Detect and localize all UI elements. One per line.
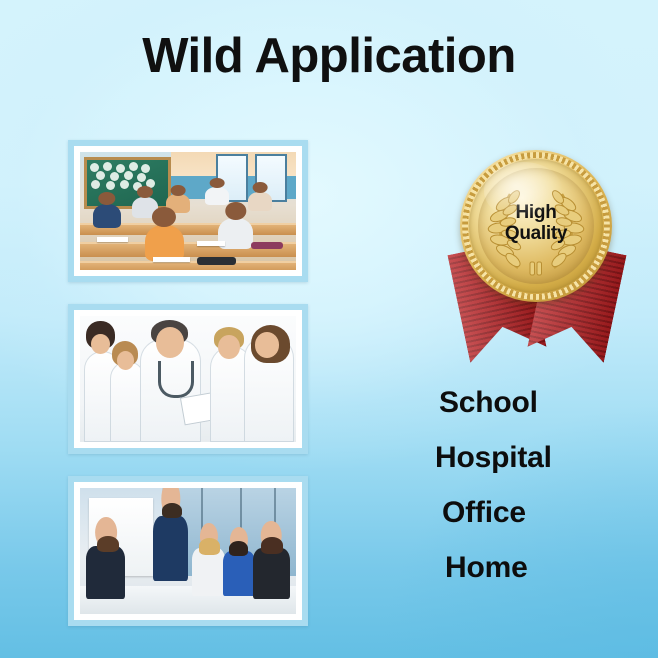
photo-image-hospital: [80, 316, 296, 442]
application-list: School Hospital Office Home: [430, 388, 630, 583]
photo-card-hospital: [68, 304, 308, 454]
application-item-school: School: [439, 388, 630, 418]
quality-badge: High Quality: [452, 150, 622, 350]
photo-image-office: [80, 488, 296, 614]
poster-canvas: Wild Application: [0, 0, 658, 658]
award-medal-icon: High Quality: [460, 150, 612, 302]
application-item-office: Office: [442, 498, 630, 528]
photo-gallery: [68, 140, 308, 648]
application-item-home: Home: [445, 553, 630, 583]
photo-matte: [74, 482, 302, 620]
photo-card-office: [68, 476, 308, 626]
photo-card-classroom: [68, 140, 308, 282]
badge-line-2: Quality: [460, 223, 612, 244]
application-item-hospital: Hospital: [435, 443, 630, 473]
photo-matte: [74, 310, 302, 448]
page-title: Wild Application: [0, 30, 658, 84]
photo-matte: [74, 146, 302, 276]
photo-image-classroom: [80, 152, 296, 270]
